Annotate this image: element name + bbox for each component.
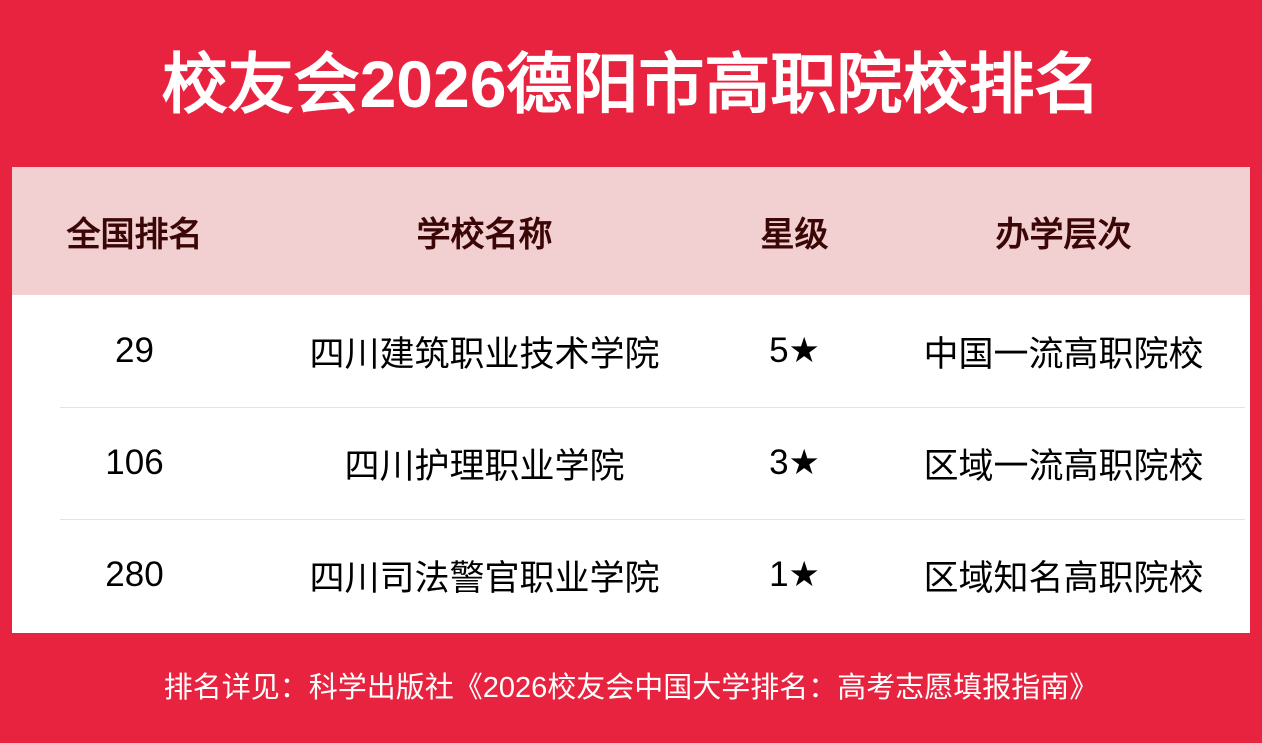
page-title: 校友会2026德阳市高职院校排名 (162, 51, 1101, 117)
table-row: 29 四川建筑职业技术学院 5★ 中国一流高职院校 (12, 295, 1250, 407)
table-row: 106 四川护理职业学院 3★ 区域一流高职院校 (12, 407, 1250, 519)
ranking-infographic: 校友会2026德阳市高职院校排名 全国排名 学校名称 星级 办学层次 29 四川… (0, 0, 1262, 743)
column-header-level: 办学层次 (877, 207, 1250, 256)
cell-level: 区域一流高职院校 (877, 438, 1250, 489)
cell-rank: 29 (12, 331, 257, 371)
source-note: 排名详见：科学出版社《2026校友会中国大学排名：高考志愿填报指南》 (164, 674, 1099, 703)
column-header-rank: 全国排名 (12, 207, 257, 256)
cell-star: 3★ (712, 443, 877, 483)
cell-star: 5★ (712, 331, 877, 371)
cell-star: 1★ (712, 555, 877, 595)
cell-school: 四川司法警官职业学院 (257, 550, 712, 601)
column-header-star: 星级 (712, 207, 877, 256)
cell-school: 四川建筑职业技术学院 (257, 326, 712, 377)
cell-level: 中国一流高职院校 (877, 326, 1250, 377)
table-row: 280 四川司法警官职业学院 1★ 区域知名高职院校 (12, 519, 1250, 631)
cell-rank: 280 (12, 555, 257, 595)
column-header-school: 学校名称 (257, 207, 712, 256)
footer-bar: 排名详见：科学出版社《2026校友会中国大学排名：高考志愿填报指南》 (0, 633, 1262, 743)
ranking-table: 全国排名 学校名称 星级 办学层次 29 四川建筑职业技术学院 5★ 中国一流高… (12, 167, 1250, 633)
cell-rank: 106 (12, 443, 257, 483)
cell-school: 四川护理职业学院 (257, 438, 712, 489)
title-bar: 校友会2026德阳市高职院校排名 (0, 0, 1262, 167)
cell-level: 区域知名高职院校 (877, 550, 1250, 601)
table-body: 29 四川建筑职业技术学院 5★ 中国一流高职院校 106 四川护理职业学院 3… (12, 295, 1250, 633)
table-header-row: 全国排名 学校名称 星级 办学层次 (12, 167, 1250, 295)
